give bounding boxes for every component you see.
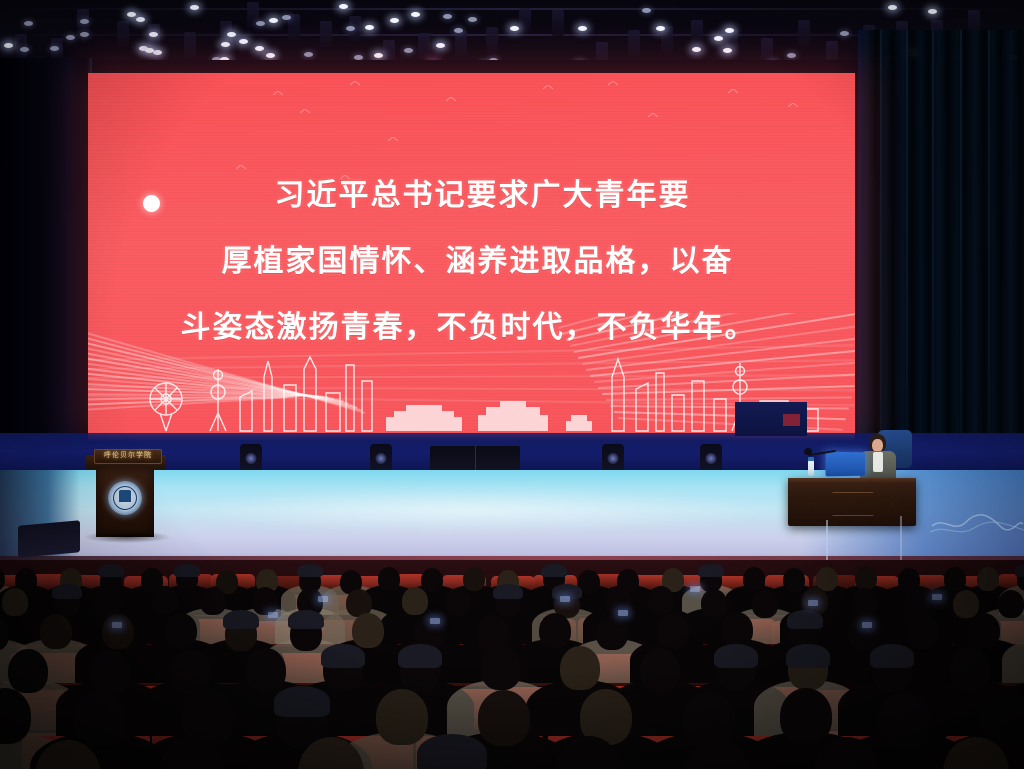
laptop-icon [826,452,866,477]
slide-line-2: 厚植家国情怀、涵养进取品格，以奋 [100,247,855,277]
audience-head [944,567,966,591]
ceiling-fixture [148,24,160,50]
audience-head [376,689,428,745]
ceiling-light [642,8,651,13]
device-screen-glow [862,622,872,628]
university-emblem-icon [108,481,142,515]
audience-cap [1015,564,1024,577]
ceiling-light [436,43,445,48]
ceiling-fixture [184,32,196,58]
audience-cap [288,610,324,629]
ceiling-light [725,28,734,33]
slide-line-1: 习近平总书记要求广大青年要 [110,181,855,211]
ceiling-light [390,18,399,23]
slide-text-block: 习近平总书记要求广大青年要 厚植家国情怀、涵养进取品格，以奋 斗姿态激扬青春，不… [88,73,855,323]
audience-cap [98,564,124,577]
audience-head [421,568,443,592]
device-screen-glow [560,596,570,602]
audience-head [90,650,130,694]
audience-head [879,692,931,748]
ceiling-light [255,46,264,51]
audience-cap [417,734,487,769]
audience-head [352,613,384,648]
device-screen-glow [112,622,122,628]
audience-head [596,615,628,650]
audience-head [852,588,878,616]
audience-head [640,648,680,692]
audience-cap [174,564,200,577]
audience-head [539,613,571,648]
device-screen-glow [268,612,278,618]
podium-nameplate: 呼伦贝尔学院 [94,449,162,464]
ceiling-fixture [486,27,498,53]
audience-head [200,587,226,615]
ceiling-fixture [691,20,703,46]
ceiling-light [714,36,723,41]
audience-cap [786,644,830,668]
ceiling-light [24,21,33,26]
audience-head [977,567,999,591]
desk-cable-2 [900,516,902,560]
desk-panel-trim [814,492,892,516]
audience-head [252,587,278,615]
audience-head [848,615,880,650]
device-screen-glow [690,586,700,592]
audience-head [743,567,765,591]
lectern-podium: 呼伦贝尔学院 [92,455,160,541]
ceiling-light [239,39,248,44]
microphone-icon [804,448,812,455]
ceiling-light [153,50,162,55]
presenter-desk-area [782,424,942,534]
audience-head [752,590,778,618]
ceiling-light [888,5,897,10]
ceiling-light [510,26,519,31]
audience-head [478,690,530,746]
audience-cap [493,584,523,599]
audience-head [906,614,938,649]
ceiling-light [411,12,420,17]
audience-head [998,590,1024,618]
audience-head [968,613,1000,648]
audience-cap [223,610,259,629]
ceiling-fixture [552,10,564,36]
ceiling-light [928,9,937,14]
stage-backdrop-accent [783,414,800,426]
ceiling-light [20,47,29,52]
audience-head [648,586,674,614]
ceiling-light [80,32,89,37]
ceiling-fixture [519,8,531,34]
audience-head [402,587,428,615]
audience-cap [698,564,724,577]
ceiling-light [256,21,265,26]
audience-cap [52,584,82,599]
desk-cable-1 [826,520,828,560]
device-screen-glow [318,596,328,602]
stage-floor-monitor [18,520,80,557]
ceiling-light [468,17,477,22]
audience-cap [398,644,442,668]
stage-floor-sheen [150,486,790,534]
audience-head [95,588,121,616]
audience-head [246,648,286,692]
podium-shadow [84,533,170,543]
device-screen-glow [430,618,440,624]
audience-head [378,567,400,591]
audience-head [102,614,134,649]
ceiling-light [266,53,275,58]
ceiling-light [304,52,313,57]
device-screen-glow [932,594,942,600]
audience-head [780,688,832,744]
ceiling-fixture [320,21,332,47]
device-screen-glow [618,610,628,616]
audience-head [783,568,805,592]
ceiling-fixture [418,33,430,59]
audience-head [657,613,689,648]
audience-head [165,613,197,648]
ceiling-light [346,26,355,31]
ceiling-light [443,14,452,19]
ceiling-light [404,48,413,53]
audience-head [445,588,471,616]
ceiling-light [4,43,13,48]
floor-cables [930,508,1024,538]
audience-head [855,566,877,590]
auditorium-photo: 习近平总书记要求广大青年要 厚植家国情怀、涵养进取品格，以奋 斗姿态激扬青春，不… [0,0,1024,769]
audience-cap [297,564,323,577]
audience-head [40,614,72,649]
audience-seating [0,560,1024,769]
ceiling-light [374,53,383,58]
audience-head [8,649,48,693]
audience-head [950,647,990,691]
audience-cap [787,610,823,629]
ceiling-light [269,18,278,23]
ceiling-light [66,35,75,40]
audience-head [74,690,126,746]
audience-head [477,615,509,650]
water-bottle-cap [808,457,814,461]
audience-cap [714,644,758,668]
ceiling-light [787,53,796,58]
ceiling-light [136,17,145,22]
ceiling-light [365,25,374,30]
podium-body [96,467,154,537]
audience-head [904,589,930,617]
ceiling-fixture [117,21,129,47]
ceiling-light [127,12,136,17]
audience-head [463,567,485,591]
device-screen-glow [808,600,818,606]
ceiling-light [578,26,587,31]
audience-head [171,650,211,694]
presenter-shirt [873,452,883,472]
audience-head [560,646,600,690]
audience-cap [321,644,365,668]
ceiling-light [80,19,89,24]
ceiling-light [692,47,701,52]
audience-cap [870,644,914,668]
ceiling-light [227,32,236,37]
audience-head [683,691,735,747]
audience-head [721,612,753,647]
ceiling-fixture [628,30,640,56]
ceiling-light [282,15,291,20]
led-presentation-screen: 习近平总书记要求广大青年要 厚植家国情怀、涵养进取品格，以奋 斗姿态激扬青春，不… [88,73,855,433]
ceiling-fixture [798,20,810,46]
audience-cap [541,564,567,577]
audience-head [152,586,178,614]
ceiling-fixture [455,31,467,57]
ceiling-light [354,55,363,60]
audience-head [2,588,28,616]
audience-head [481,646,521,690]
audience-head [953,590,979,618]
presenter-desk [788,478,916,526]
audience-cap [274,686,330,717]
audience-head [701,589,727,617]
water-bottle-icon [808,460,814,476]
